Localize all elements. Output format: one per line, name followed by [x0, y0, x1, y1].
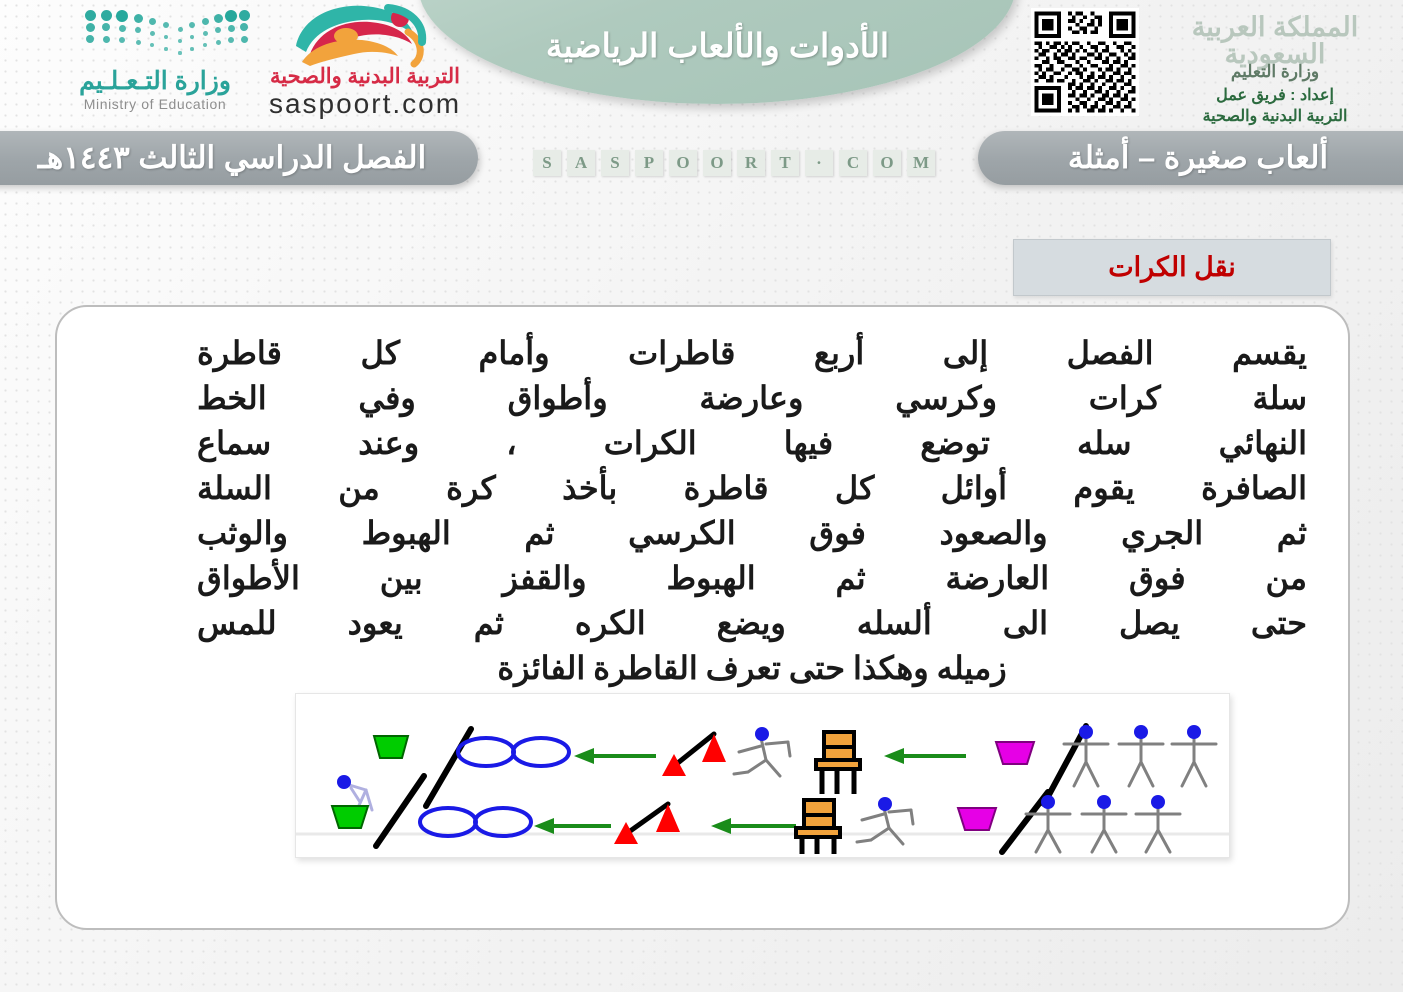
watermark-letter: S [533, 150, 561, 176]
ministry-logo-dot [116, 10, 128, 22]
ministry-dots-icon [88, 11, 248, 69]
activity-title-box: نقل الكرات [1013, 239, 1331, 296]
ministry-logo-dot [101, 10, 112, 21]
ministry-logo-dot [150, 43, 154, 47]
watermark-letter: R [737, 150, 765, 176]
term-pill-label: الفصل الدراسي الثالث ١٤٤٣هـ [0, 131, 478, 185]
page-title: الأدوات والألعاب الرياضية [430, 26, 1005, 65]
pe-label-english: saspoort.com [240, 88, 490, 120]
ministry-logo-dot [134, 14, 143, 23]
ministry-logo-dot [189, 22, 195, 28]
watermark-letter: O [873, 150, 901, 176]
ministry-logo-dot [178, 39, 182, 43]
watermark-letter: C [839, 150, 867, 176]
kingdom-line-1: المملكة العربية السعودية [1150, 14, 1400, 68]
ministry-logo-dot [135, 27, 141, 33]
ministry-logo-dot [119, 37, 125, 43]
ministry-logo-dot [225, 10, 237, 22]
topic-pill-label: ألعاب صغيرة – أمثلة [978, 131, 1403, 185]
activity-description-line: زميله وهكذا حتى تعرف القاطرة الفائزة [197, 646, 1307, 691]
ministry-logo-dot [102, 23, 110, 31]
activity-description: يقسم الفصل إلى أربع قاطرات وأمام كل قاطر… [197, 331, 1307, 691]
ministry-logo-dot [228, 37, 234, 43]
slide-root: الأدوات والألعاب الرياضية وزارة التـعـلـ… [0, 0, 1403, 992]
ministry-logo-dot [228, 25, 235, 32]
watermark-letter: · [805, 150, 833, 176]
kingdom-header-block: المملكة العربية السعودية وزارة التعليم إ… [1150, 14, 1400, 126]
watermark-letter: P [635, 150, 663, 176]
activity-title: نقل الكرات [1108, 252, 1236, 283]
activity-description-line: النهائي سله توضع فيها الكرات ، وعند سماع [197, 421, 1307, 466]
kingdom-line-3: إعداد : فريق عمل [1150, 85, 1400, 105]
ministry-logo-dot [103, 36, 110, 43]
ministry-logo-dot [86, 35, 94, 43]
ministry-logo-dot [150, 31, 155, 36]
ministry-logo-dot [203, 31, 208, 36]
pe-label-arabic: التربية البدنية والصحية [240, 64, 490, 89]
term-pill: الفصل الدراسي الثالث ١٤٤٣هـ [0, 131, 478, 185]
ministry-logo-dot [216, 40, 221, 45]
watermark-letter: A [567, 150, 595, 176]
ministry-logo-dot [203, 43, 207, 47]
qr-code[interactable] [1031, 8, 1139, 116]
ministry-logo-dot [163, 22, 169, 28]
saspoort-watermark: SASPOORT·COM [533, 146, 935, 180]
watermark-letter: S [601, 150, 629, 176]
ministry-logo-dot [85, 10, 96, 21]
activity-description-line: سلة كرات وكرسي وعارضة وأطواق وفي الخط [197, 376, 1307, 421]
ministry-logo-dot [136, 40, 141, 45]
activity-description-line: ثم الجري والصعود فوق الكرسي ثم الهبوط وا… [197, 511, 1307, 556]
ministry-logo-dot [164, 35, 168, 39]
ministry-logo-dot [215, 27, 221, 33]
ministry-logo-dot [202, 18, 209, 25]
content-card: يقسم الفصل إلى أربع قاطرات وأمام كل قاطر… [55, 305, 1350, 930]
watermark-letter: T [771, 150, 799, 176]
ministry-logo-dot [178, 51, 181, 54]
pe-swoosh-icon [288, 2, 428, 68]
ministry-logo-dot [190, 47, 194, 51]
topic-pill: ألعاب صغيرة – أمثلة [978, 131, 1403, 185]
watermark-letter: O [669, 150, 697, 176]
ministry-logo-dot [214, 14, 223, 23]
ministry-logo-dot [86, 23, 95, 32]
ministry-logo-dot [178, 27, 183, 32]
watermark-letter: O [703, 150, 731, 176]
activity-description-line: الصافرة يقوم أوائل كل قاطرة بأخذ كرة من … [197, 466, 1307, 511]
physical-education-logo: التربية البدنية والصحية saspoort.com [240, 2, 490, 120]
activity-description-line: من فوق العارضة ثم الهبوط والقفز بين الأط… [197, 556, 1307, 601]
kingdom-line-2: وزارة التعليم [1150, 62, 1400, 82]
ministry-logo-dot [190, 35, 194, 39]
ball-relay-station-diagram [295, 693, 1230, 858]
watermark-letter: M [907, 150, 935, 176]
kingdom-line-4: التربية البدنية والصحية [1150, 106, 1400, 126]
ministry-logo-dot [119, 25, 126, 32]
activity-description-line: يقسم الفصل إلى أربع قاطرات وأمام كل قاطر… [197, 331, 1307, 376]
ministry-logo-dot [149, 18, 156, 25]
activity-description-line: حتى يصل الى ألسله ويضع الكره ثم يعود للم… [197, 601, 1307, 646]
ministry-logo-dot [164, 47, 168, 51]
